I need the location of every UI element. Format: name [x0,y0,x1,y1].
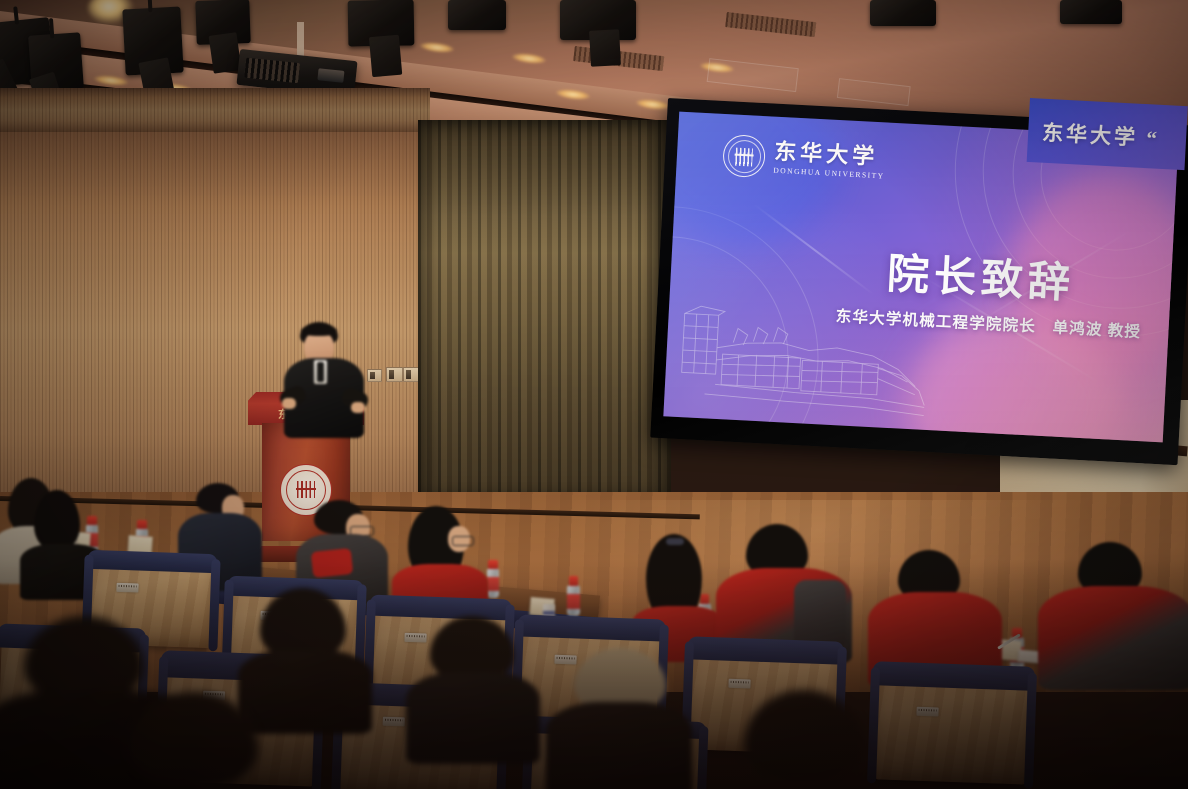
stage-light [28,32,84,91]
seat-number-tag [383,717,405,727]
stage-light [122,7,183,76]
wood-slat-wall-upper [0,88,430,132]
wall-outlet-plate[interactable] [367,369,382,382]
audience-member [104,692,294,789]
slide-brand: 东华大学 DONGHUA UNIVERSITY [722,134,886,184]
banner-text: 东华大学 “ [1041,117,1160,153]
stage-light [448,0,506,30]
donghua-university-seal-icon [722,134,766,178]
auditorium-photo: 东华大学 DONGHUA UNIVERSITY 院长致辞 东华大学机械工程学院院… [0,0,1188,789]
audience-member [1044,542,1188,678]
audience-member [556,648,682,789]
seat-number-tag [116,583,138,593]
seat-number-tag [728,679,750,689]
stage-curtain [418,120,671,502]
seat-number-tag [916,707,938,717]
audience-member [722,524,842,654]
ceiling-access-panel [707,58,799,92]
audience-member [722,690,898,789]
stage-light [348,0,415,47]
stage-light [870,0,936,26]
brand-name-cn: 东华大学 [774,141,886,169]
water-bottle[interactable] [487,560,499,598]
speaker-at-podium [284,322,368,440]
stage-light [560,0,636,40]
slide-title: 院长致辞 [886,240,1077,311]
stage-light [1060,0,1122,24]
water-bottle[interactable] [567,576,580,616]
stage-light [195,0,251,45]
ceiling-access-panel [837,78,911,106]
audience-member [872,550,994,676]
secondary-banner-display: 东华大学 “ [1027,98,1188,170]
audience-member [414,616,532,756]
hvac-linear-vent [725,12,816,37]
wall-switch-plate[interactable] [386,367,403,382]
